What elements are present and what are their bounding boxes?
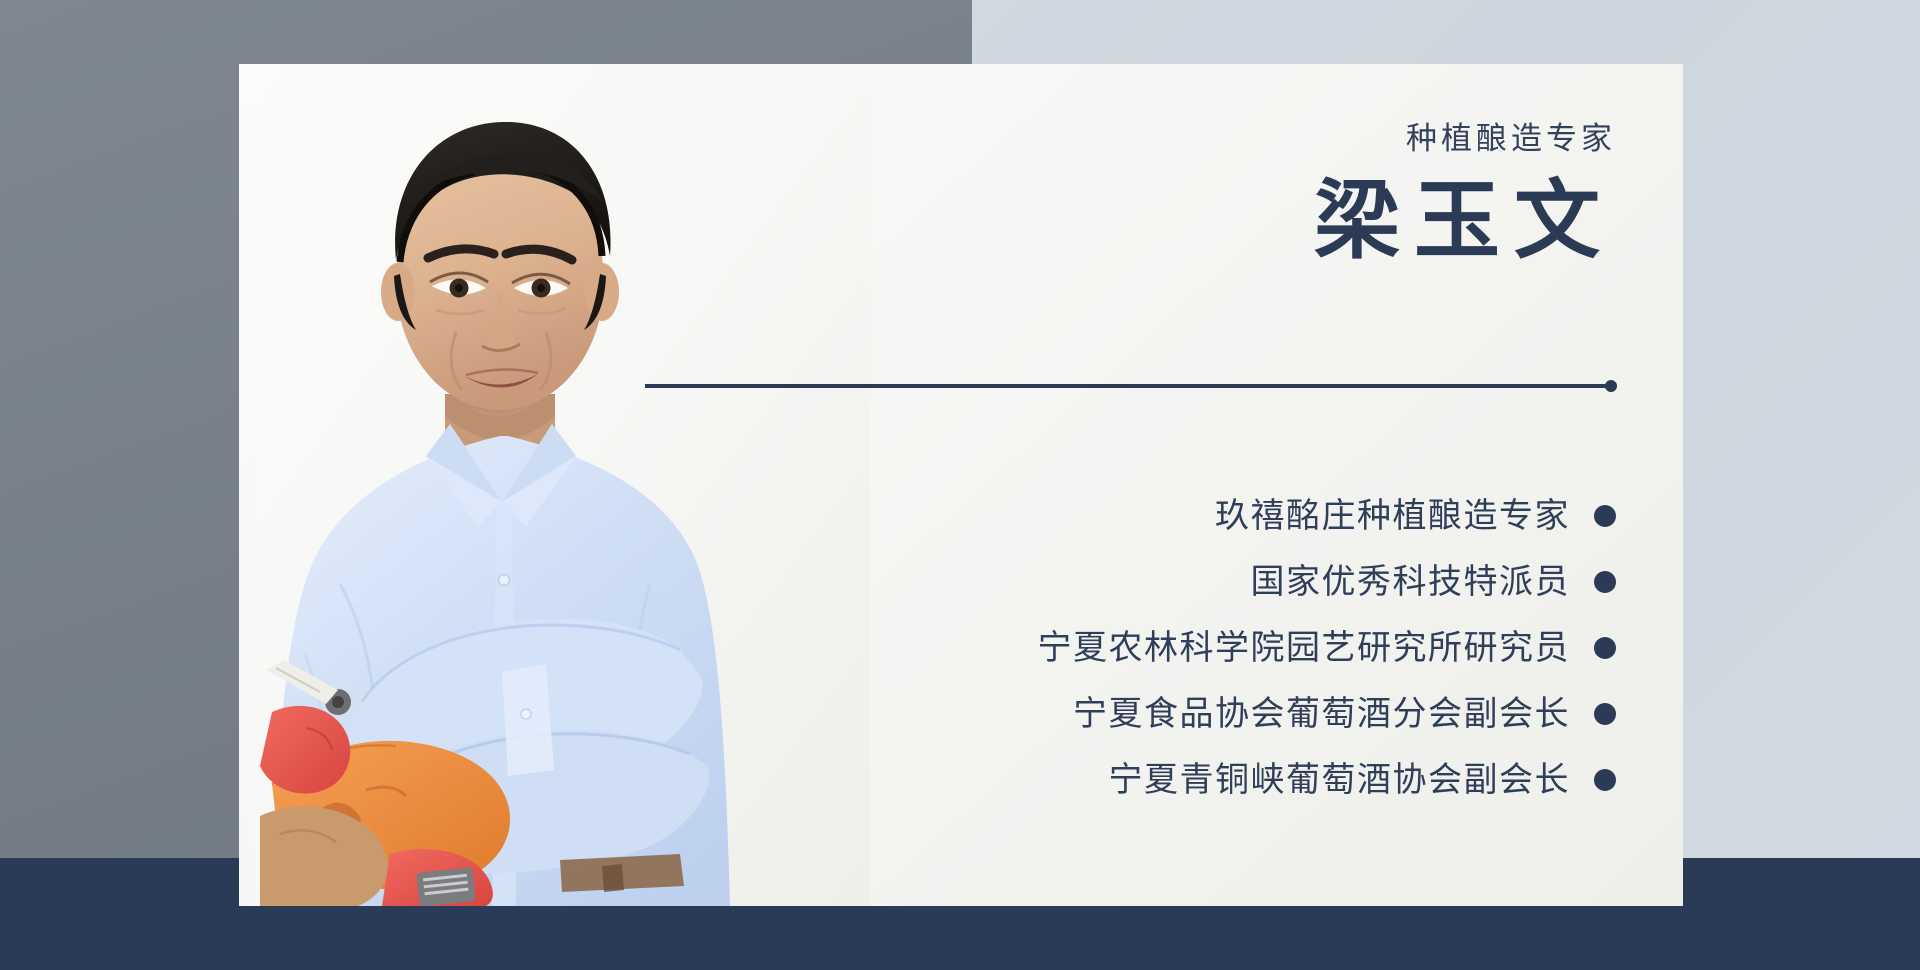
divider [645,380,1617,392]
list-item: 国家优秀科技特派员 [780,549,1616,615]
credential-label: 宁夏青铜峡葡萄酒协会副会长 [1109,763,1571,797]
expert-portrait-photo [250,64,870,906]
list-item: 玖禧酩庄种植酿造专家 [780,483,1616,549]
credential-label: 宁夏食品协会葡萄酒分会副会长 [1073,697,1570,731]
expert-profile-banner: 种植酿造专家 梁玉文 玖禧酩庄种植酿造专家国家优秀科技特派员宁夏农林科学院园艺研… [0,0,1920,970]
bullet-dot-icon [1594,637,1616,659]
role-title: 种植酿造专家 [900,120,1616,157]
profile-text-block: 种植酿造专家 梁玉文 [900,120,1616,268]
list-item: 宁夏食品协会葡萄酒分会副会长 [780,681,1616,747]
bullet-dot-icon [1594,571,1616,593]
divider-end-dot-icon [1605,380,1617,392]
credential-label: 玖禧酩庄种植酿造专家 [1215,499,1570,533]
bullet-dot-icon [1594,769,1616,791]
list-item: 宁夏农林科学院园艺研究所研究员 [780,615,1616,681]
bullet-dot-icon [1594,505,1616,527]
person-name: 梁玉文 [900,175,1616,268]
credentials-list: 玖禧酩庄种植酿造专家国家优秀科技特派员宁夏农林科学院园艺研究所研究员宁夏食品协会… [780,483,1616,813]
background-navy-band-right [1706,858,1920,970]
list-item: 宁夏青铜峡葡萄酒协会副会长 [780,747,1616,813]
bullet-dot-icon [1594,703,1616,725]
credential-label: 宁夏农林科学院园艺研究所研究员 [1038,631,1571,665]
credential-label: 国家优秀科技特派员 [1251,565,1571,599]
divider-line [645,384,1607,388]
